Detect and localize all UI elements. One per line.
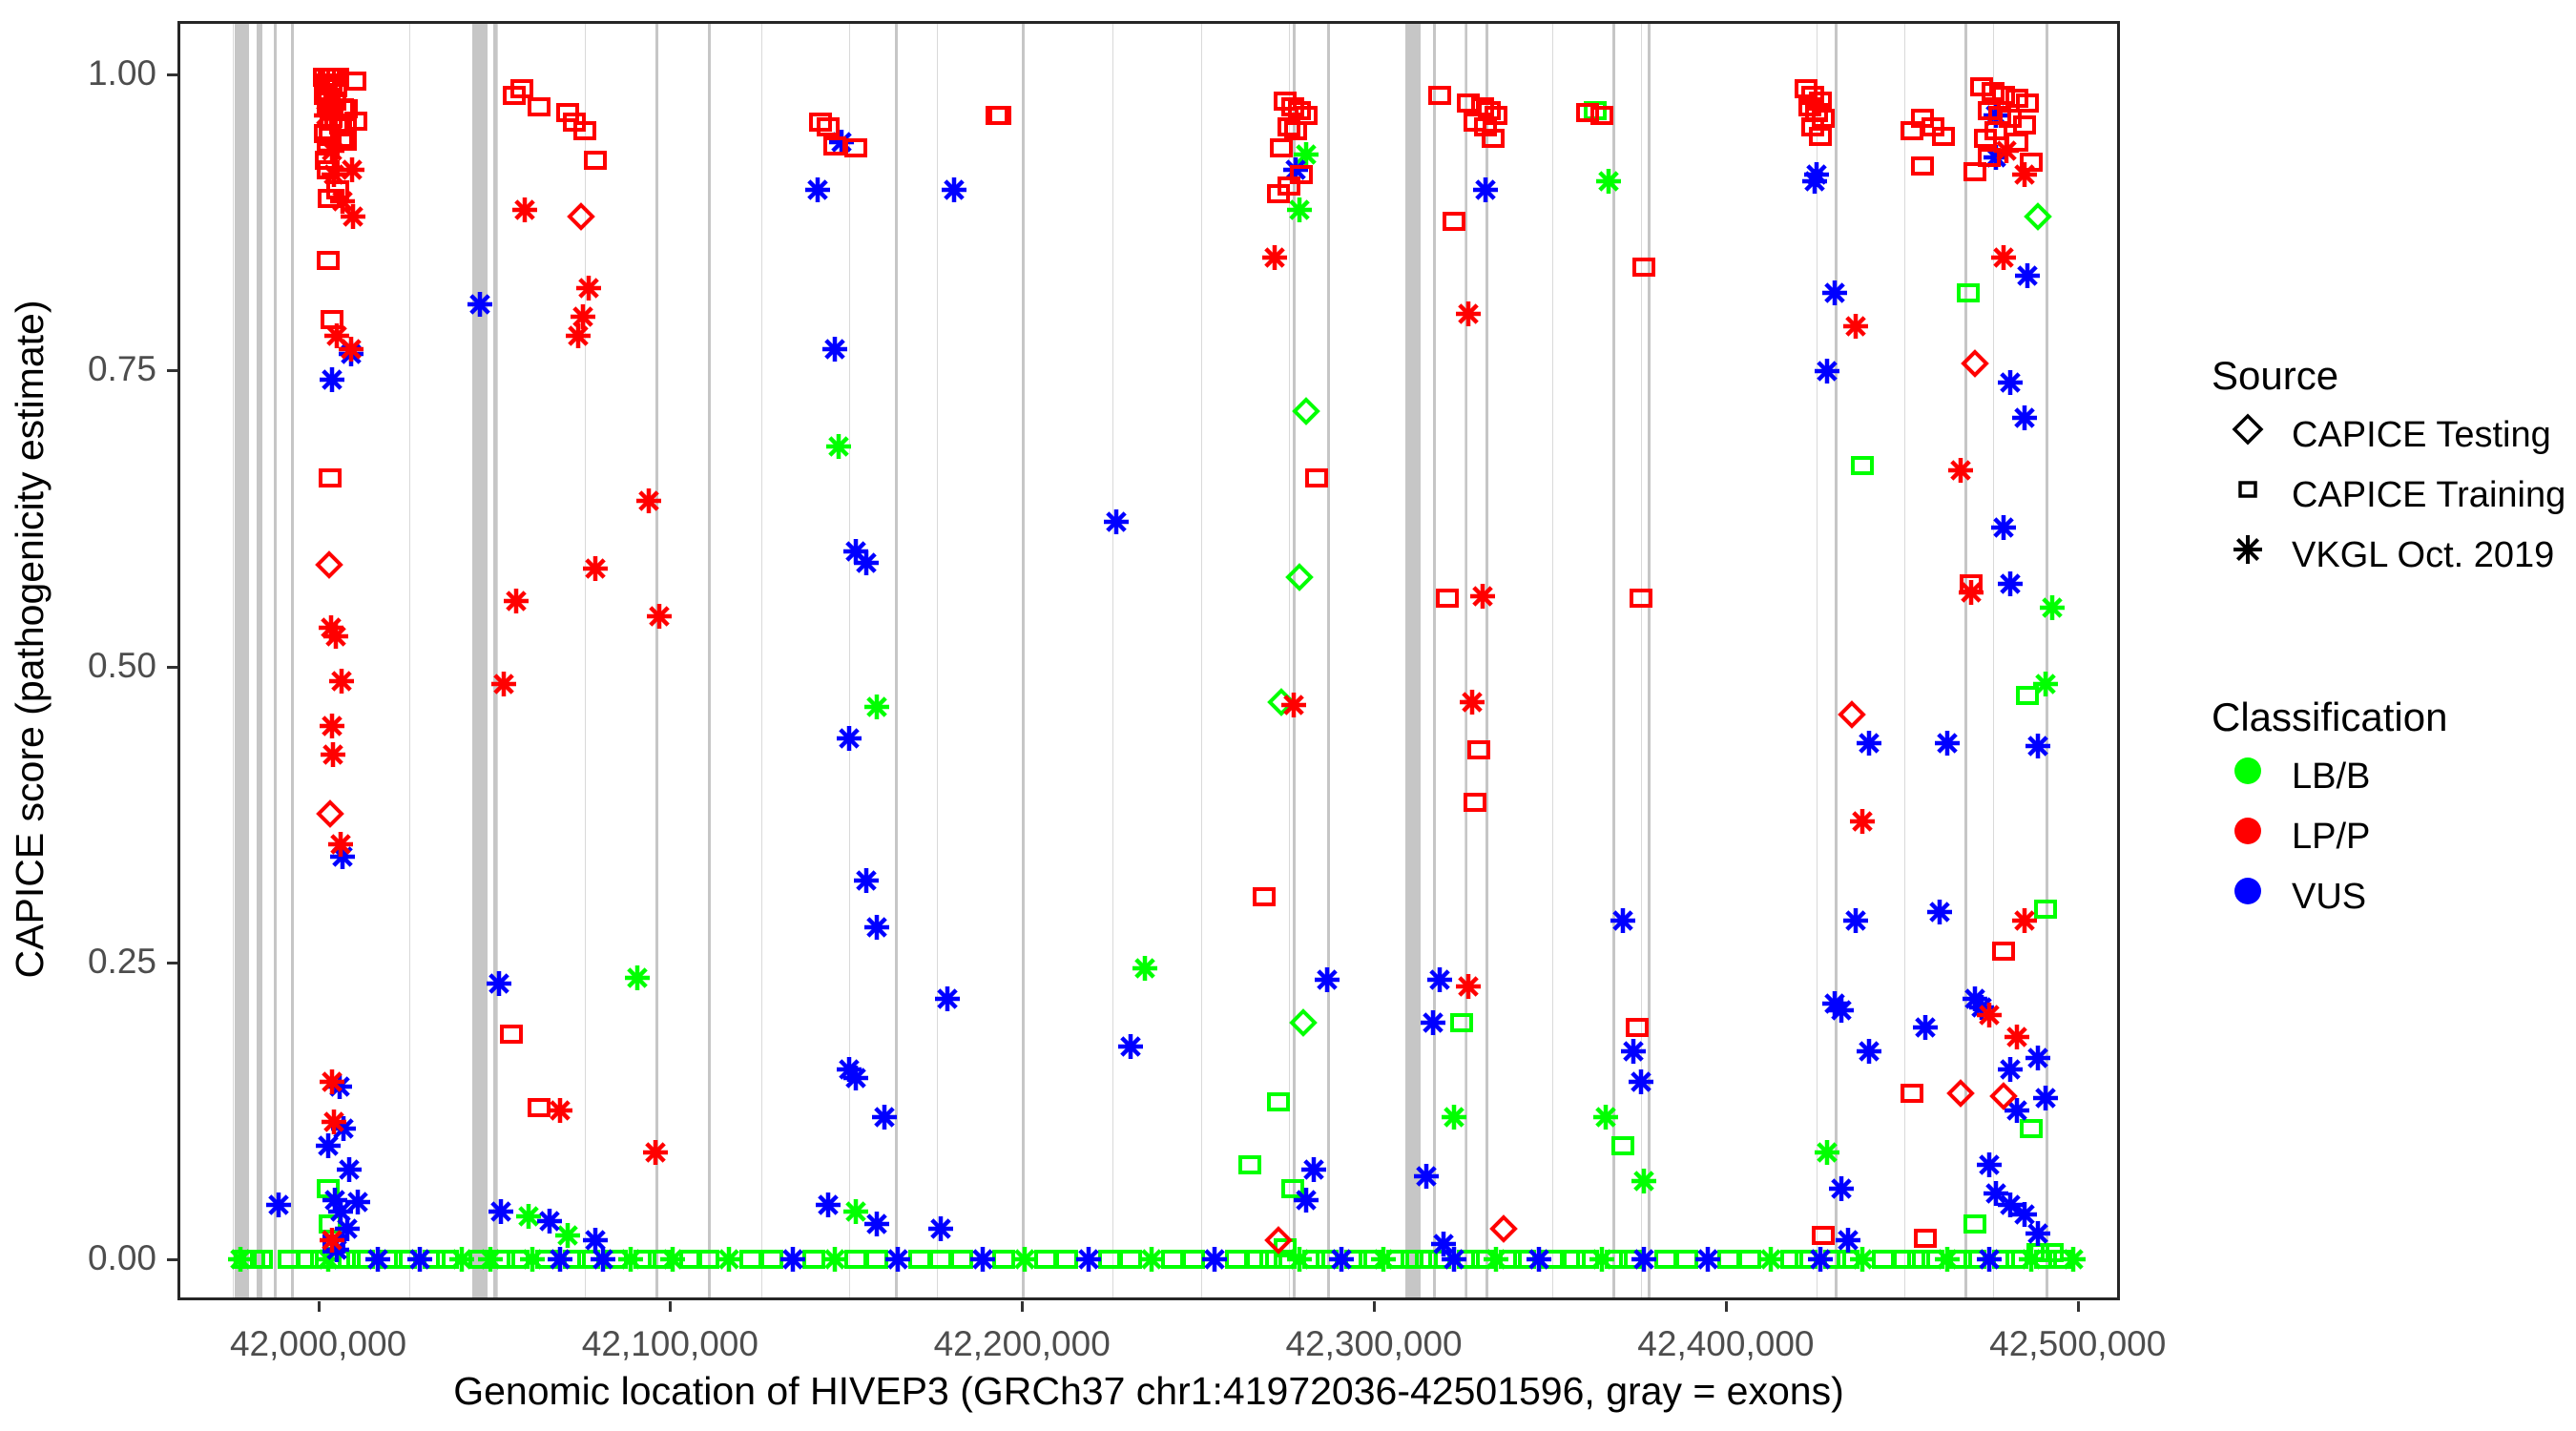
data-point	[506, 191, 544, 229]
data-point	[311, 459, 349, 497]
x-tick-mark	[1373, 1301, 1376, 1312]
data-point	[1903, 147, 1942, 185]
data-point	[1837, 902, 1875, 940]
data-point	[1956, 344, 1994, 383]
y-tick-mark	[167, 1258, 177, 1261]
diamond-outline-icon	[2223, 404, 2273, 454]
data-point	[1952, 573, 1990, 612]
data-point	[928, 980, 966, 1018]
data-point	[774, 1240, 812, 1278]
data-point	[310, 546, 348, 584]
data-point	[1843, 802, 1881, 840]
data-point	[1284, 1004, 1322, 1042]
data-point	[492, 1015, 530, 1053]
data-point	[1921, 893, 1959, 931]
filled-circle-icon	[2223, 746, 2273, 796]
data-point	[816, 330, 854, 368]
data-point	[1435, 1098, 1473, 1136]
data-point	[1449, 967, 1487, 1006]
data-point	[1280, 558, 1319, 596]
gridline	[409, 24, 410, 1297]
data-point	[1231, 1146, 1269, 1184]
data-point	[334, 197, 372, 236]
data-point	[1837, 307, 1875, 345]
gridline	[761, 24, 762, 1297]
data-point	[562, 197, 600, 236]
exon-band	[274, 24, 277, 1297]
data-point	[576, 141, 614, 179]
classification-legend-item-label[interactable]: LP/P	[2292, 817, 2370, 858]
data-point	[1622, 1063, 1660, 1101]
source-legend-item-label[interactable]: VKGL Oct. 2019	[2292, 535, 2554, 576]
data-point	[314, 736, 352, 774]
y-tick-mark	[167, 73, 177, 76]
x-tick-mark	[318, 1301, 321, 1312]
data-point	[1991, 363, 2029, 402]
data-point	[1906, 1219, 1944, 1257]
data-point	[1287, 1181, 1325, 1219]
data-point	[1843, 446, 1881, 485]
data-point	[1520, 1240, 1558, 1278]
x-tick-label: 42,000,000	[195, 1324, 443, 1364]
data-point	[879, 1240, 917, 1278]
y-tick-mark	[167, 666, 177, 669]
data-point	[1808, 352, 1846, 390]
data-point	[809, 1186, 847, 1224]
x-tick-label: 42,400,000	[1602, 1324, 1850, 1364]
data-point	[1625, 248, 1663, 286]
data-point	[1949, 274, 1987, 312]
data-point	[309, 241, 347, 280]
gridline	[1201, 24, 1202, 1297]
data-point	[1970, 1240, 2008, 1278]
scatter-plot-figure: CAPICE score (pathogenicity estimate) 0.…	[0, 0, 2576, 1431]
data-point	[576, 550, 614, 588]
data-point	[480, 964, 518, 1003]
data-point	[584, 1240, 622, 1278]
x-tick-mark	[2077, 1301, 2080, 1312]
data-point	[1893, 1074, 1931, 1112]
y-tick-label: 0.50	[4, 646, 156, 686]
classification-legend-item-label[interactable]: VUS	[2292, 877, 2366, 918]
data-point	[461, 285, 499, 323]
data-point	[2033, 589, 2071, 627]
data-point	[401, 1240, 439, 1278]
data-point	[313, 1063, 351, 1101]
exon-band	[1835, 24, 1838, 1297]
data-point	[315, 1103, 353, 1141]
data-point	[1984, 238, 2023, 277]
data-point	[1275, 686, 1313, 724]
exon-band	[1405, 24, 1422, 1297]
data-point	[2005, 399, 2044, 437]
exon-band	[708, 24, 711, 1297]
data-point	[1833, 695, 1871, 734]
data-point	[858, 908, 896, 946]
data-point	[2019, 1214, 2057, 1253]
exon-band	[1648, 24, 1651, 1297]
x-axis-title: Genomic location of HIVEP3 (GRCh37 chr1:…	[177, 1366, 2120, 1416]
gridline	[233, 24, 234, 1297]
data-point	[313, 1221, 351, 1259]
classification-legend-item-label[interactable]: LB/B	[2292, 757, 2370, 798]
data-point	[1604, 1127, 1642, 1165]
asterisk-icon	[2223, 525, 2273, 574]
data-point	[1583, 96, 1621, 135]
data-point	[1428, 579, 1466, 617]
data-point	[317, 617, 355, 655]
data-point	[1195, 1240, 1234, 1278]
data-point	[922, 1210, 960, 1248]
data-point	[322, 825, 360, 863]
plot-panel	[177, 21, 2120, 1300]
data-point	[1456, 783, 1494, 821]
data-point	[640, 597, 678, 635]
data-point	[837, 1059, 875, 1097]
data-point	[1984, 508, 2023, 547]
data-point	[2005, 156, 2044, 194]
data-point	[1322, 1240, 1361, 1278]
data-point	[1111, 1027, 1150, 1066]
data-point	[935, 171, 973, 209]
data-point	[865, 1098, 904, 1136]
data-point	[1625, 1240, 1663, 1278]
data-point	[830, 719, 868, 757]
data-point	[1460, 731, 1498, 769]
exon-band	[235, 24, 249, 1297]
data-point	[1808, 1133, 1846, 1172]
y-tick-mark	[167, 962, 177, 964]
data-point	[1956, 153, 1994, 191]
classification-legend-title: Classification	[2212, 695, 2447, 740]
data-point	[359, 1240, 397, 1278]
data-point	[541, 1240, 579, 1278]
data-point	[837, 129, 875, 167]
data-point	[630, 482, 668, 520]
x-tick-mark	[1725, 1301, 1728, 1312]
data-point	[1259, 1083, 1298, 1121]
data-point	[1998, 1018, 2036, 1056]
exon-band	[1022, 24, 1025, 1297]
exon-band	[655, 24, 658, 1297]
exon-band	[257, 24, 261, 1297]
filled-circle-icon	[2223, 806, 2273, 856]
gridline	[1552, 24, 1553, 1297]
data-point	[1453, 683, 1491, 721]
x-tick-label: 42,500,000	[1954, 1324, 2202, 1364]
data-point	[1474, 119, 1512, 157]
data-point	[260, 1186, 298, 1224]
data-point	[1414, 1004, 1452, 1042]
exon-band	[472, 24, 487, 1297]
source-legend-item-label[interactable]: CAPICE Training	[2292, 475, 2566, 516]
data-point	[858, 1205, 896, 1243]
source-legend-title: Source	[2212, 353, 2338, 399]
y-axis-title: CAPICE score (pathogenicity estimate)	[0, 0, 59, 1278]
gridline	[1641, 24, 1642, 1297]
data-point	[485, 665, 523, 703]
y-tick-label: 0.25	[4, 942, 156, 982]
data-point	[332, 330, 370, 368]
data-point	[1984, 1077, 2023, 1115]
x-tick-label: 42,100,000	[546, 1324, 794, 1364]
data-point	[530, 1202, 569, 1240]
data-point	[1308, 961, 1346, 999]
data-point	[2019, 197, 2057, 236]
data-point	[1984, 932, 2023, 970]
data-point	[964, 1240, 1002, 1278]
exon-band	[291, 24, 294, 1297]
data-point	[1942, 451, 1980, 489]
data-point	[1256, 238, 1294, 277]
data-point	[1928, 724, 1966, 762]
data-point	[799, 171, 837, 209]
y-tick-mark	[167, 369, 177, 372]
data-point	[1287, 392, 1325, 430]
data-point	[1796, 162, 1834, 200]
x-tick-mark	[1021, 1301, 1024, 1312]
data-point	[1689, 1240, 1727, 1278]
data-point	[1097, 503, 1135, 541]
data-point	[618, 959, 656, 997]
square-outline-icon	[2223, 465, 2273, 514]
data-point	[1407, 1157, 1445, 1195]
data-point	[1942, 1074, 1980, 1112]
data-point	[1485, 1210, 1523, 1248]
data-point	[1464, 577, 1502, 615]
data-point	[1259, 175, 1298, 213]
data-point	[1906, 1008, 1944, 1047]
data-point	[2008, 676, 2046, 715]
data-point	[1245, 878, 1283, 916]
data-point	[1449, 295, 1487, 333]
gridline	[1817, 24, 1818, 1297]
data-point	[978, 96, 1016, 135]
data-point	[1259, 1221, 1298, 1259]
gridline	[497, 24, 498, 1297]
data-point	[847, 861, 885, 900]
x-tick-mark	[669, 1301, 672, 1312]
data-point	[1435, 1240, 1473, 1278]
data-point	[1604, 902, 1642, 940]
data-point	[1804, 1216, 1842, 1255]
data-point	[636, 1133, 675, 1172]
y-tick-label: 0.75	[4, 349, 156, 389]
data-point	[559, 317, 597, 355]
data-point	[1622, 579, 1660, 617]
data-point	[820, 427, 858, 466]
data-point	[541, 1091, 579, 1130]
data-point	[1126, 949, 1164, 987]
data-point	[1589, 162, 1628, 200]
data-point	[322, 662, 361, 700]
data-point	[1991, 565, 2029, 603]
gridline	[1112, 24, 1113, 1297]
exon-band	[1327, 24, 1330, 1297]
source-legend-item-label[interactable]: CAPICE Testing	[2292, 415, 2551, 456]
data-point	[1298, 459, 1336, 497]
data-point	[1435, 202, 1473, 240]
data-point	[2019, 727, 2057, 765]
x-tick-label: 42,200,000	[898, 1324, 1146, 1364]
y-tick-label: 0.00	[4, 1238, 156, 1278]
exon-band	[1485, 24, 1488, 1297]
data-point	[482, 1192, 520, 1231]
data-point	[1618, 1008, 1656, 1047]
data-point	[1822, 1170, 1860, 1208]
data-point	[1850, 1032, 1888, 1070]
filled-circle-icon	[2223, 866, 2273, 916]
data-point	[1625, 1162, 1663, 1200]
data-point	[847, 544, 885, 582]
gridline	[849, 24, 850, 1297]
data-point	[1070, 1240, 1108, 1278]
data-point	[497, 582, 535, 620]
gridline	[937, 24, 938, 1297]
data-point	[1822, 991, 1860, 1029]
x-tick-label: 42,300,000	[1250, 1324, 1498, 1364]
y-tick-label: 1.00	[4, 53, 156, 93]
data-point	[1801, 117, 1839, 156]
